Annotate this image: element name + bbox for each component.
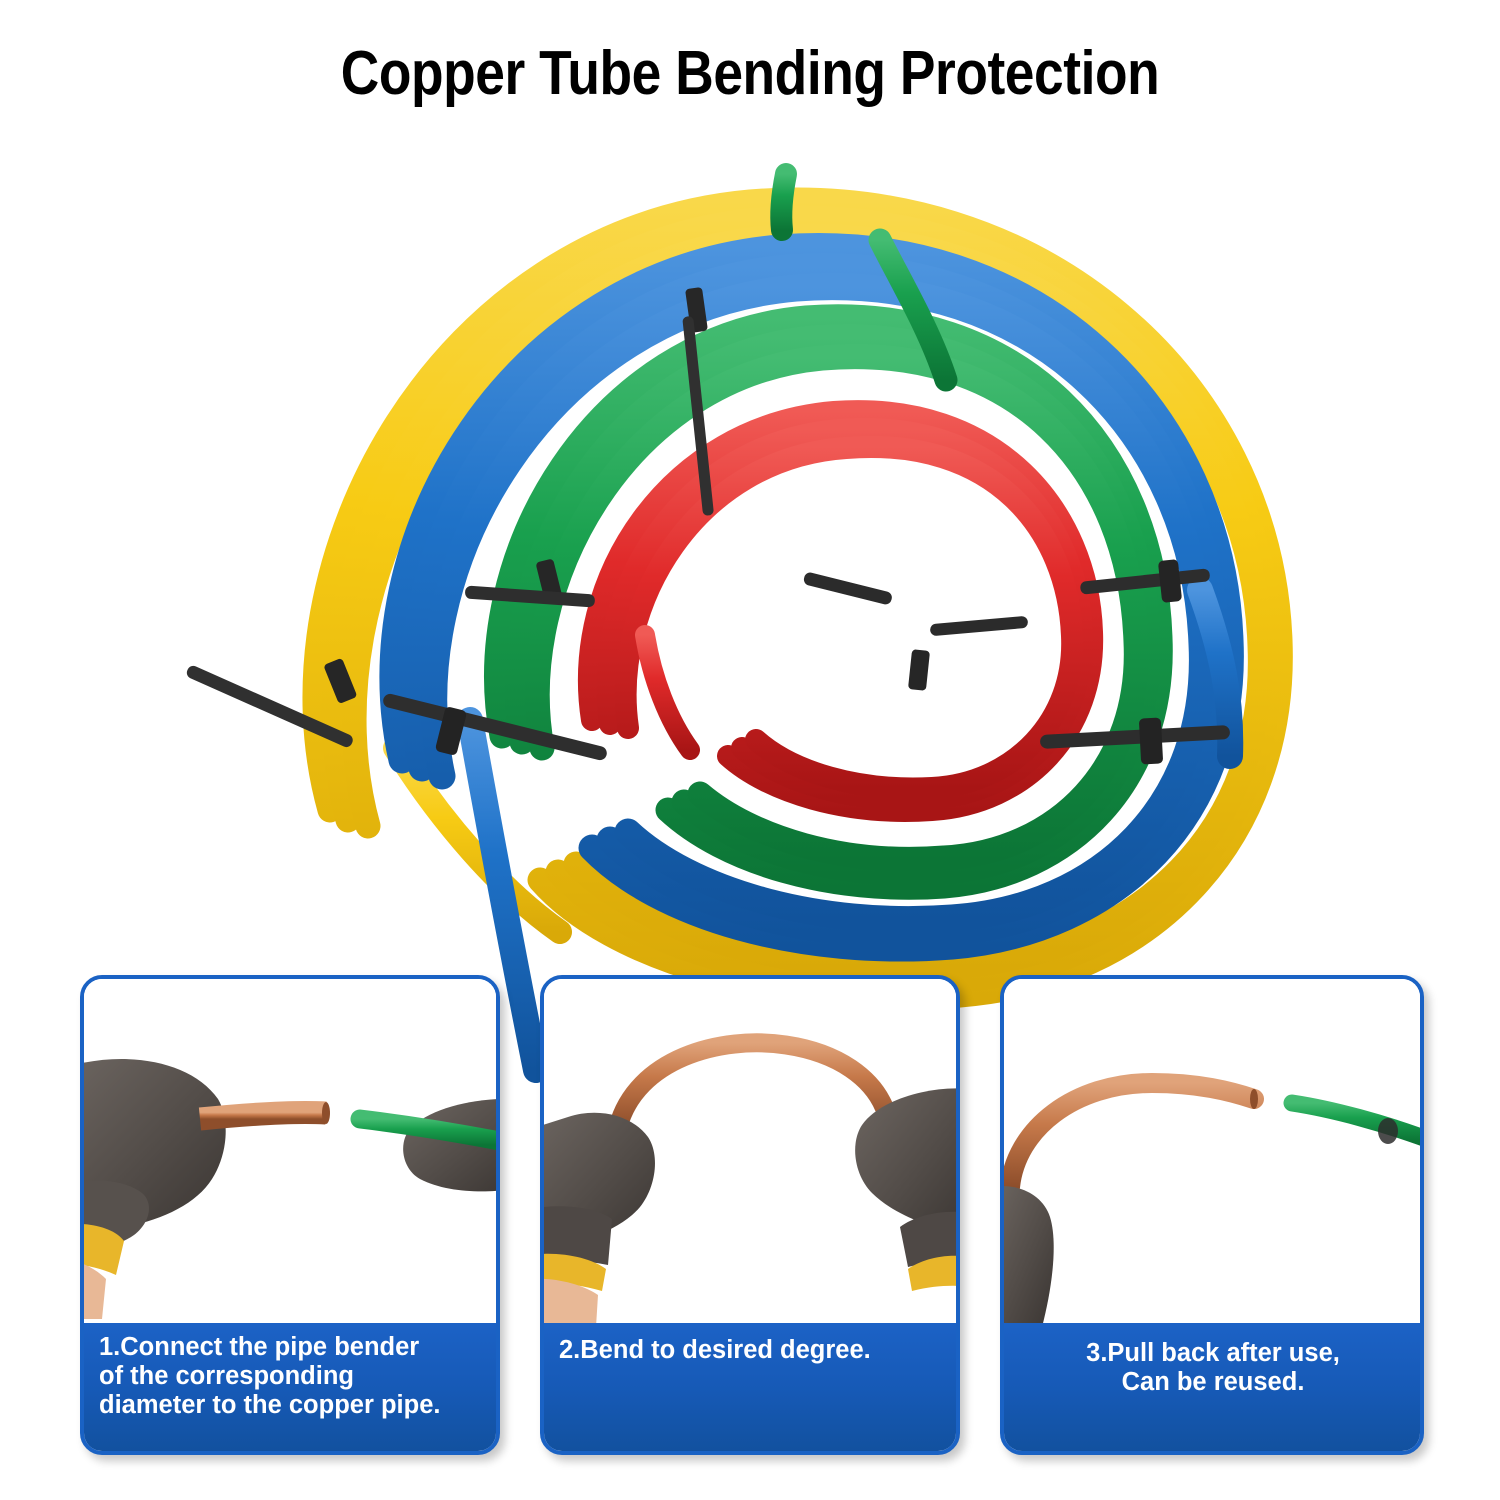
product-infographic: Copper Tube Bending Protection: [0, 0, 1500, 1500]
bend-tube-illustration: [544, 979, 956, 1327]
pull-back-photo: [1004, 979, 1420, 1327]
tube-coil-red: [589, 411, 1092, 811]
step-panel-3: 3.Pull back after use, Can be reused.: [1000, 975, 1424, 1455]
connect-bender-photo: [84, 979, 496, 1327]
hero-image: [140, 120, 1370, 1050]
zip-tie: [930, 616, 1029, 636]
connect-bender-illustration: [84, 979, 496, 1327]
step-panel-1: 1.Connect the pipe bender of the corresp…: [80, 975, 500, 1455]
pull-back-illustration: [1004, 979, 1420, 1327]
bend-tube-photo: [544, 979, 956, 1327]
page-title: Copper Tube Bending Protection: [105, 38, 1395, 109]
step-caption-2: 2.Bend to desired degree.: [544, 1323, 956, 1451]
step-panel-2: 2.Bend to desired degree.: [540, 975, 960, 1455]
zip-tie: [803, 571, 893, 605]
step-caption-3: 3.Pull back after use, Can be reused.: [1004, 1323, 1420, 1451]
coiled-tubing-illustration: [140, 120, 1370, 1050]
zip-tie: [908, 649, 930, 691]
step-caption-1: 1.Connect the pipe bender of the corresp…: [84, 1323, 496, 1451]
